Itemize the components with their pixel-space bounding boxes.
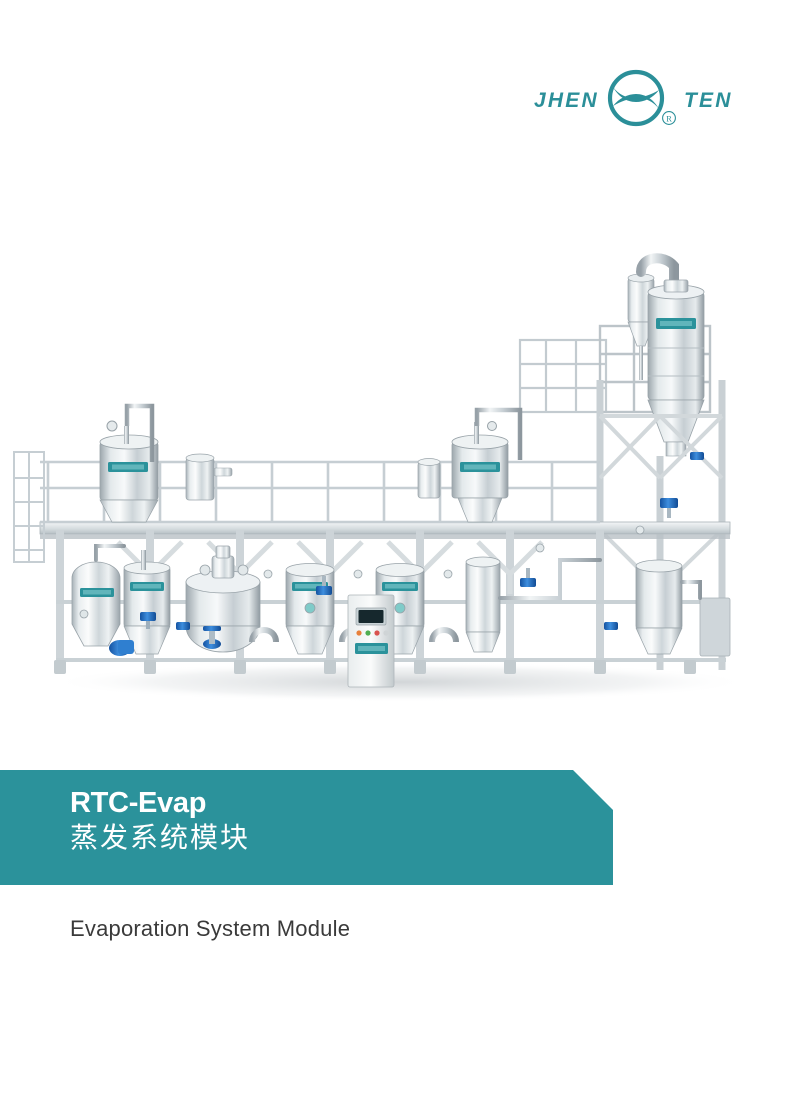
valve-actuator — [690, 452, 704, 460]
indicator-red — [374, 630, 379, 635]
hmi-screen — [359, 610, 384, 623]
conical-tank-a — [124, 550, 170, 654]
svg-text:R: R — [666, 115, 672, 124]
evaporation-system-illustration — [0, 230, 800, 710]
valve-actuator — [520, 568, 536, 587]
conical-bottom-tank-1 — [286, 564, 334, 655]
banner-text-group: RTC-Evap 蒸发系统模块 — [70, 786, 250, 856]
valve-actuator — [604, 622, 618, 630]
product-title-banner: RTC-Evap 蒸发系统模块 — [0, 770, 613, 885]
pump-motor — [109, 640, 134, 656]
logo-circle-mark — [610, 72, 662, 124]
valve-actuator — [176, 622, 190, 630]
sight-glass — [305, 603, 315, 613]
product-caption: Evaporation System Module — [70, 916, 350, 942]
upper-vessel-left — [100, 406, 158, 522]
logo-text-jhen: JHEN — [534, 89, 599, 112]
product-title: RTC-Evap — [70, 786, 250, 820]
indicator-grey — [383, 630, 388, 635]
registered-trademark-icon: R — [663, 112, 676, 125]
indicator-orange — [356, 630, 361, 635]
utility-box — [700, 598, 730, 656]
receiver-tank-left — [72, 562, 120, 646]
upper-platform-deck — [40, 522, 730, 539]
brand-logo: JHEN TEN R — [532, 68, 740, 130]
tower-bottom-vessel — [636, 560, 682, 654]
product-title-chinese: 蒸发系统模块 — [70, 820, 250, 856]
sight-glass — [395, 603, 405, 613]
heat-exchanger-column — [466, 557, 500, 652]
jhen-ten-logo-svg: JHEN TEN R — [532, 68, 740, 130]
caged-ladder — [14, 452, 44, 562]
logo-text-ten: TEN — [684, 89, 733, 112]
product-photo — [0, 230, 800, 710]
indicator-green — [365, 630, 370, 635]
control-cabinet[interactable] — [348, 595, 394, 687]
upper-platform-vessel — [418, 410, 520, 522]
product-datasheet-page: JHEN TEN R — [0, 0, 800, 1109]
